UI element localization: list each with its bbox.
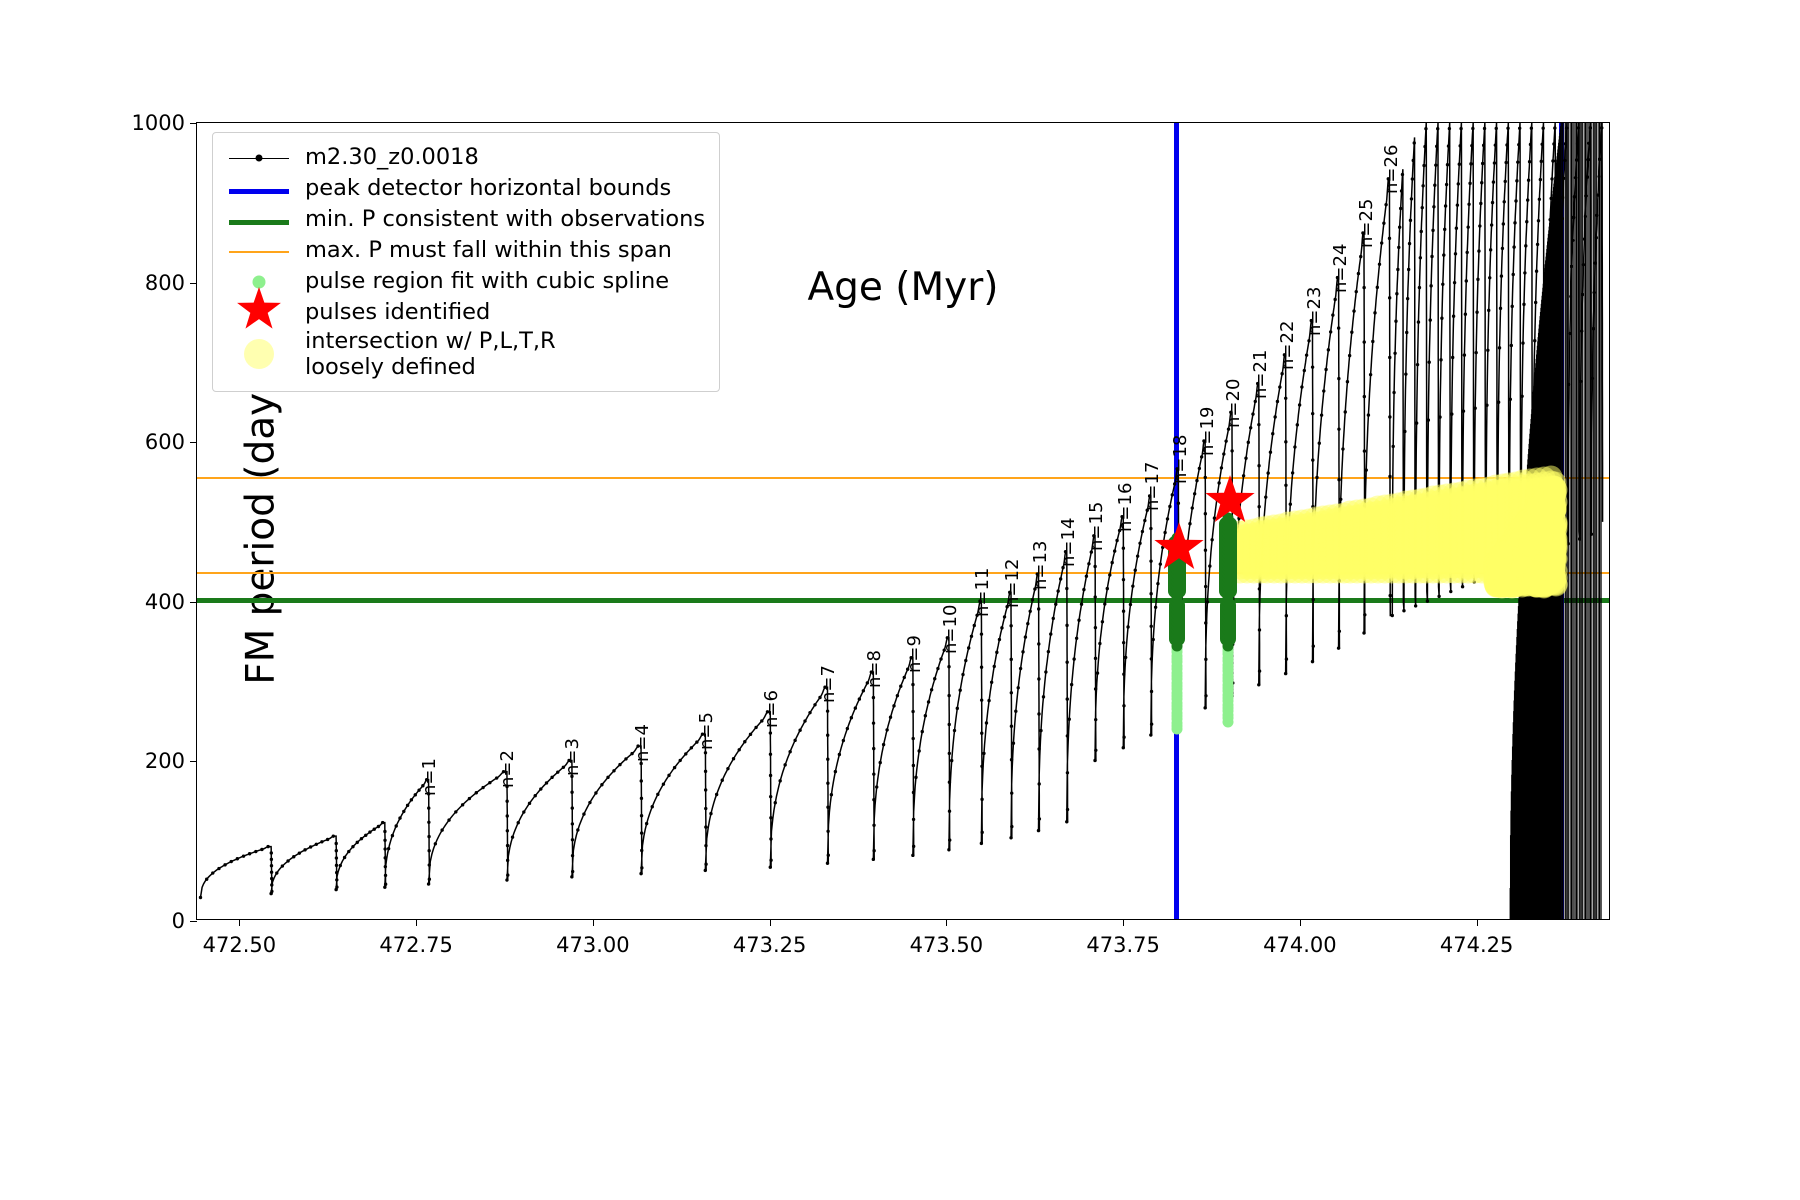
pulse-number-label: n=11 (972, 567, 993, 616)
x-tick-mark (946, 919, 947, 926)
x-tick-label: 474.25 (1440, 933, 1513, 957)
legend-item[interactable]: pulse region fit with cubic spline (227, 266, 705, 297)
x-tick-mark (1477, 919, 1478, 926)
pulse-number-label: n=25 (1356, 199, 1377, 248)
legend-marker (227, 173, 291, 204)
legend-item[interactable]: min. P consistent with observations (227, 204, 705, 235)
x-tick-label: 473.75 (1086, 933, 1159, 957)
pulse-number-label: n=2 (497, 750, 518, 788)
pulse-number-label: n=26 (1381, 144, 1402, 193)
intersection-marker (1523, 565, 1546, 588)
legend-marker (227, 204, 291, 235)
pulse-number-label: n=9 (904, 636, 925, 674)
y-tick-label: 0 (172, 909, 185, 933)
pulse-number-label: n=14 (1058, 518, 1079, 567)
legend-marker (227, 235, 291, 266)
legend-marker (227, 297, 291, 328)
pulse-identified-star (1152, 521, 1206, 579)
x-tick-label: 474.00 (1263, 933, 1336, 957)
legend-item[interactable]: m2.30_z0.0018 (227, 142, 705, 173)
pulse-number-label: n=3 (562, 738, 583, 776)
x-tick-mark (416, 919, 417, 926)
pulse-number-label: n=18 (1170, 435, 1191, 484)
legend-item[interactable]: pulses identified (227, 297, 705, 328)
thick-line-icon (229, 189, 289, 194)
y-tick-mark (190, 123, 197, 124)
pulse-number-label: n=22 (1277, 321, 1298, 370)
y-tick-label: 400 (145, 590, 185, 614)
star-icon (235, 286, 283, 334)
y-tick-label: 200 (145, 749, 185, 773)
y-tick-label: 800 (145, 271, 185, 295)
pulse-number-label: n=15 (1086, 502, 1107, 551)
legend-label: min. P consistent with observations (305, 206, 705, 232)
plot-axes: FM period (days) Age (Myr) 0200400600800… (196, 122, 1610, 920)
x-tick-mark (1123, 919, 1124, 926)
legend-item[interactable]: intersection w/ P,L,T,R loosely defined (227, 328, 705, 380)
pulse-number-label: n=21 (1250, 350, 1271, 399)
thick-line-icon (229, 220, 289, 225)
star-icon (1203, 474, 1257, 528)
intersection-marker (1530, 527, 1553, 550)
pulse-number-label: n=16 (1115, 483, 1136, 532)
y-tick-mark (190, 442, 197, 443)
legend-label: pulse region fit with cubic spline (305, 268, 669, 294)
x-tick-label: 473.50 (910, 933, 983, 957)
legend-item[interactable]: max. P must fall within this span (227, 235, 705, 266)
legend-label: max. P must fall within this span (305, 237, 672, 263)
x-tick-label: 472.50 (203, 933, 276, 957)
x-tick-mark (593, 919, 594, 926)
big-dot-icon (244, 339, 274, 369)
legend-marker (227, 339, 291, 370)
pulse-number-label: n=5 (696, 712, 717, 750)
y-tick-mark (190, 602, 197, 603)
star-icon (1152, 521, 1206, 575)
star-marker-icon (235, 286, 283, 340)
intersection-marker (1488, 557, 1511, 580)
pulse-number-label: n=1 (419, 758, 440, 796)
pulse-number-label: n=19 (1197, 407, 1218, 456)
pulse-number-label: n=23 (1304, 286, 1325, 335)
pulse-number-label: n=6 (761, 690, 782, 728)
pulse-number-label: n=17 (1142, 462, 1163, 511)
x-tick-label: 473.25 (733, 933, 806, 957)
legend-label: peak detector horizontal bounds (305, 175, 671, 201)
x-tick-mark (1300, 919, 1301, 926)
legend-marker (227, 142, 291, 173)
pulse-number-label: n=4 (632, 724, 653, 762)
pulse-number-label: n=20 (1223, 378, 1244, 427)
legend[interactable]: m2.30_z0.0018peak detector horizontal bo… (212, 132, 720, 392)
pulse-number-label: n=13 (1030, 540, 1051, 589)
pulse-number-label: n=7 (818, 665, 839, 703)
pulse-number-label: n=10 (940, 604, 961, 653)
pulse-number-label: n=8 (864, 650, 885, 688)
x-tick-mark (239, 919, 240, 926)
figure-canvas: FM period (days) Age (Myr) 0200400600800… (0, 0, 1800, 1200)
y-tick-label: 600 (145, 430, 185, 454)
thin-line-icon (229, 251, 289, 253)
y-tick-mark (190, 761, 197, 762)
legend-label: pulses identified (305, 299, 490, 325)
legend-label: m2.30_z0.0018 (305, 144, 479, 170)
pulse-identified-star (1203, 474, 1257, 532)
pulse-number-label: n=12 (1002, 559, 1023, 608)
y-tick-mark (190, 283, 197, 284)
pulse-number-label: n=24 (1330, 243, 1351, 292)
legend-item[interactable]: peak detector horizontal bounds (227, 173, 705, 204)
x-tick-label: 472.75 (379, 933, 452, 957)
x-tick-label: 473.00 (556, 933, 629, 957)
y-tick-label: 1000 (132, 111, 185, 135)
legend-label: intersection w/ P,L,T,R loosely defined (305, 328, 556, 380)
y-tick-mark (190, 921, 197, 922)
dot-icon (256, 154, 263, 161)
x-tick-mark (770, 919, 771, 926)
